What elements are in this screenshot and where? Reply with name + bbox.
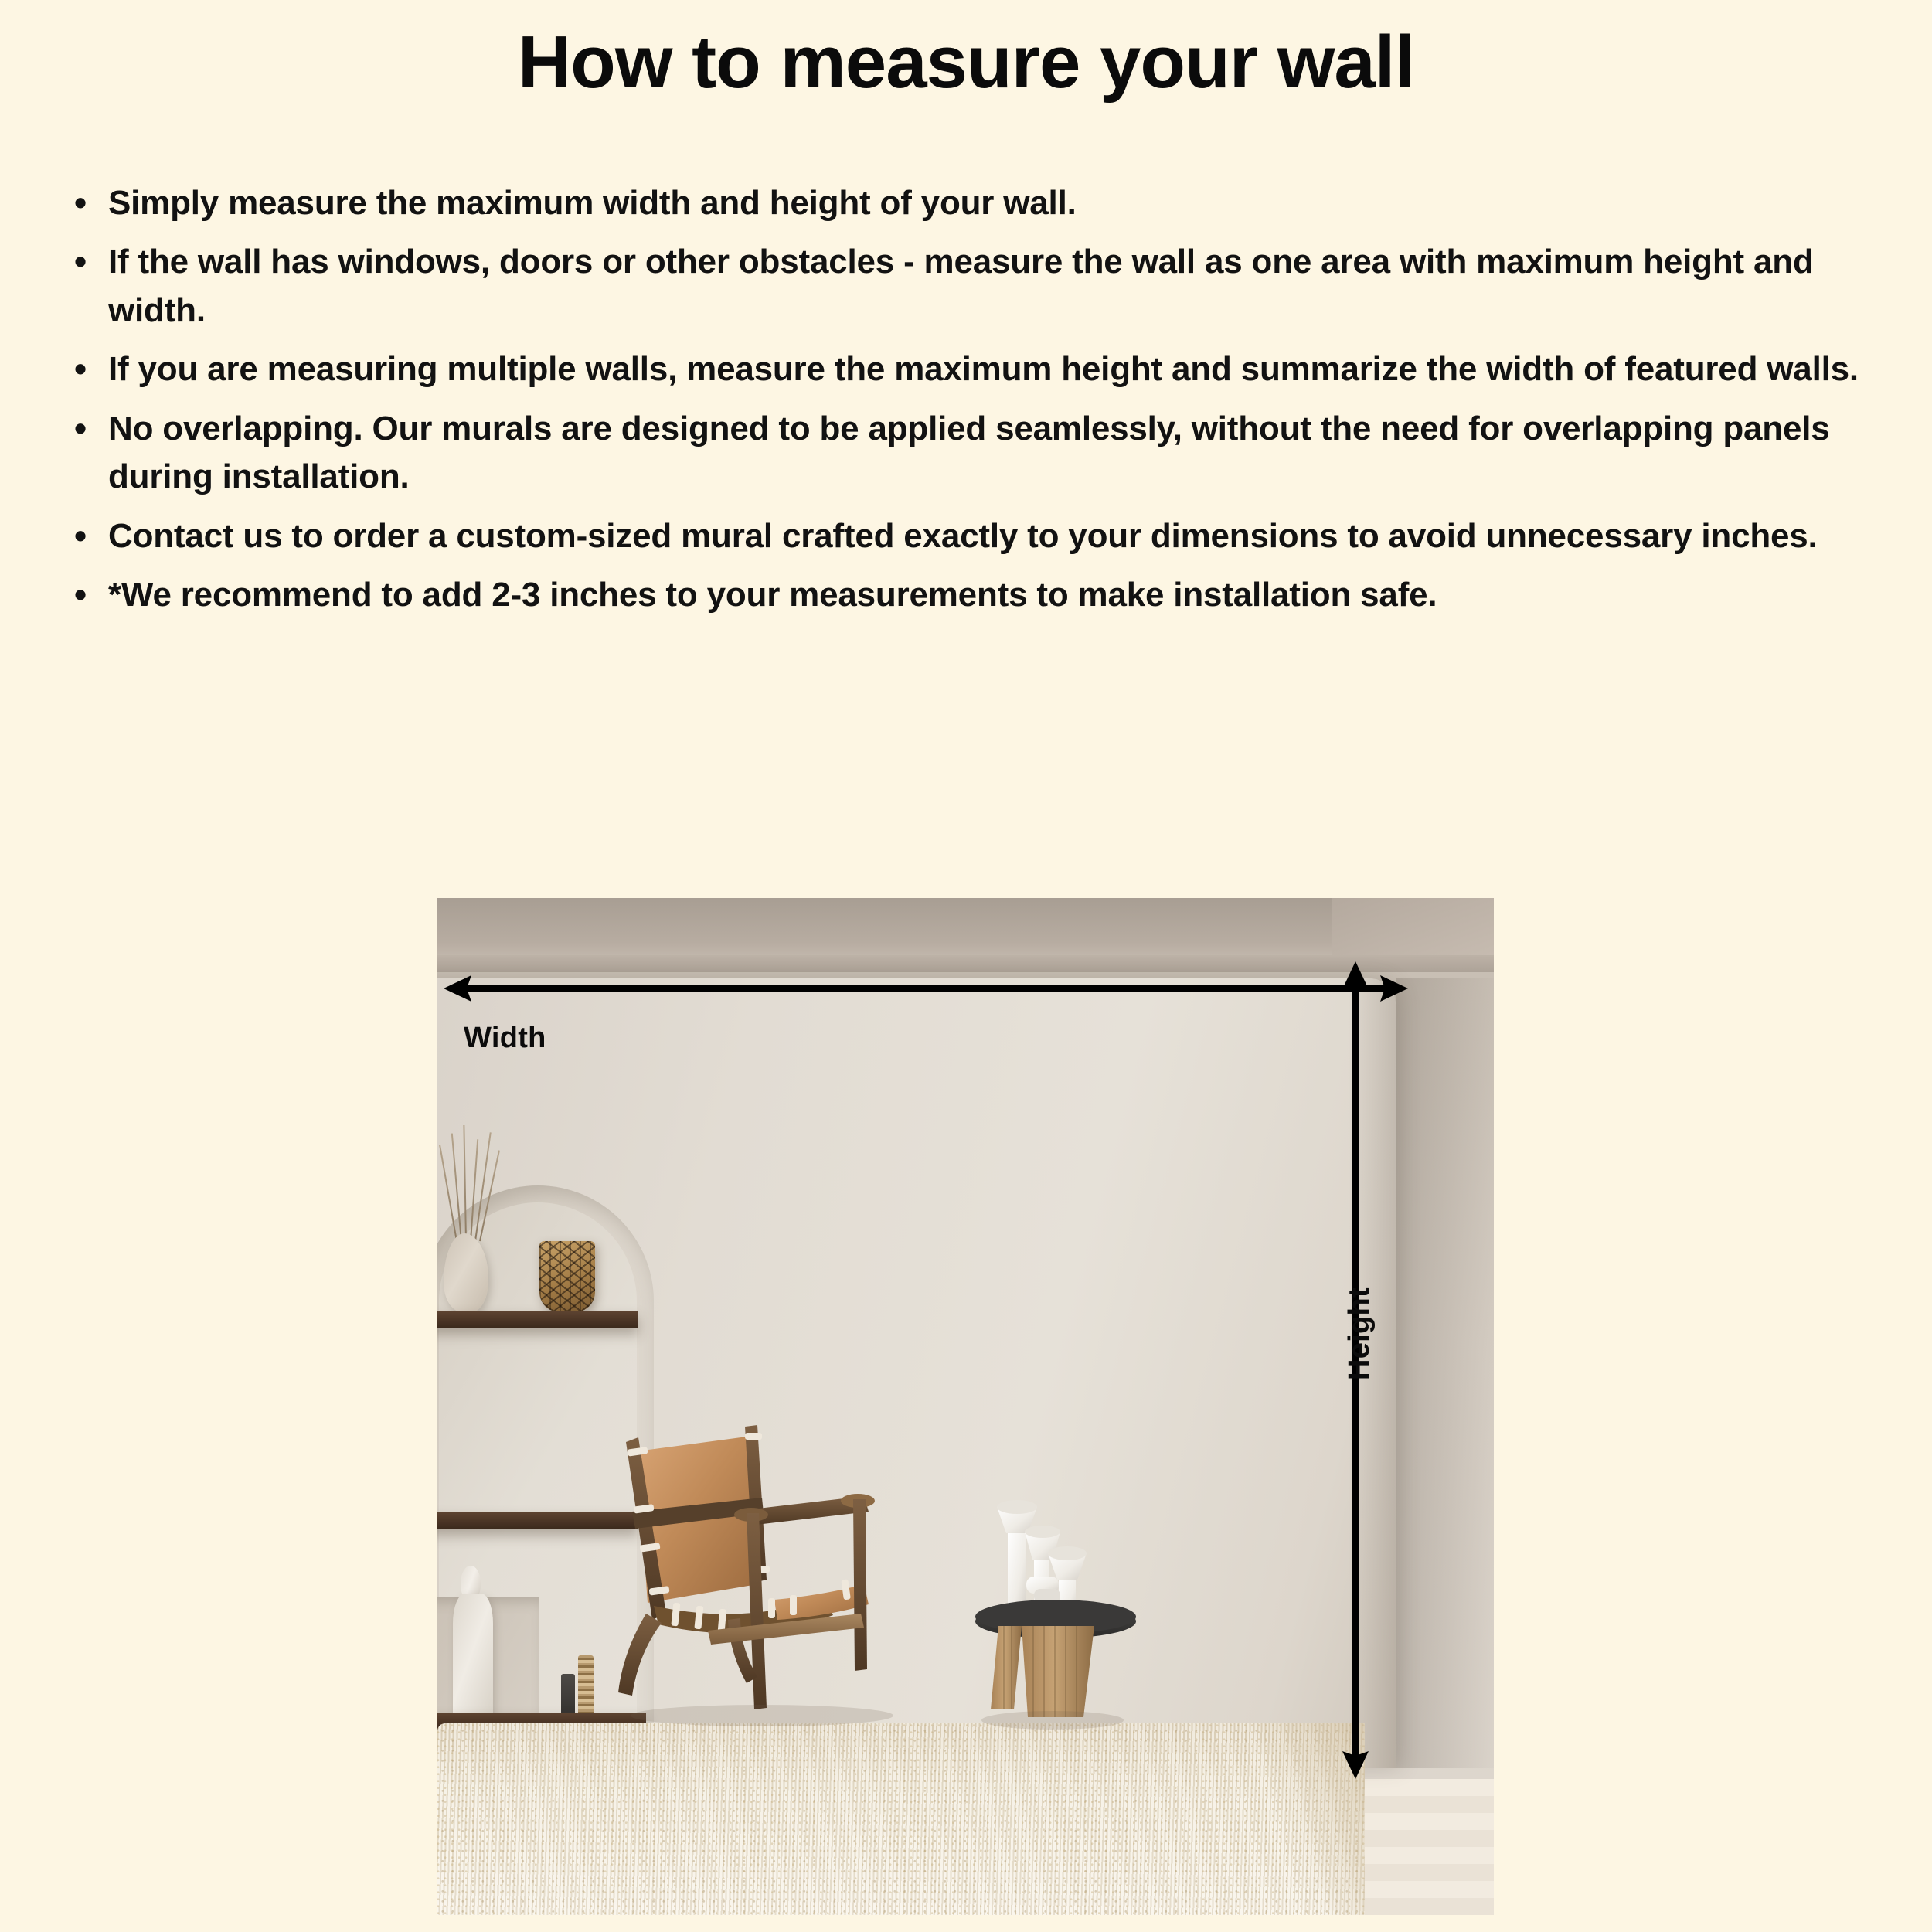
list-item: *We recommend to add 2-3 inches to your … [68, 571, 1876, 619]
width-label: Width [464, 1022, 546, 1055]
list-item: If you are measuring multiple walls, mea… [68, 345, 1876, 393]
list-item: Contact us to order a custom-sized mural… [68, 512, 1876, 560]
page-title: How to measure your wall [0, 22, 1932, 104]
list-item: Simply measure the maximum width and hei… [68, 179, 1876, 227]
rug-edge [1249, 1723, 1365, 1915]
ceiling-notch [1332, 898, 1494, 955]
height-label: Height [1343, 1287, 1376, 1380]
shelf-top [437, 1311, 638, 1328]
instruction-list: Simply measure the maximum width and hei… [68, 179, 1876, 631]
woven-basket [539, 1241, 595, 1312]
side-table [963, 1485, 1187, 1794]
list-item: If the wall has windows, doors or other … [68, 238, 1876, 335]
list-item: No overlapping. Our murals are designed … [68, 405, 1876, 502]
dried-reeds [453, 1133, 484, 1241]
measuring-guide-page: How to measure your wall Simply measure … [0, 0, 1932, 1932]
room-photo [437, 898, 1494, 1915]
lounge-chair [592, 1420, 955, 1784]
wall-edge-shadow [1396, 978, 1494, 1768]
